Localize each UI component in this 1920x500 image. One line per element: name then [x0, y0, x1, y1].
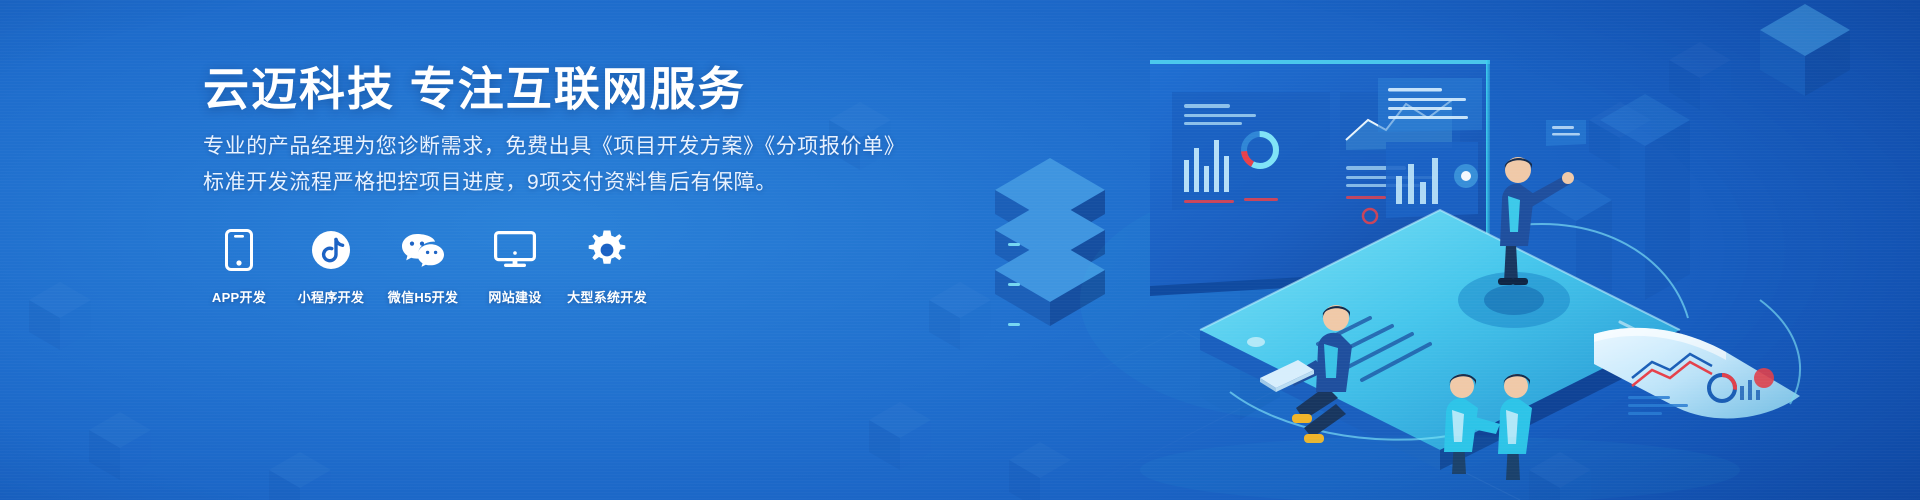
- mini-program-icon: [311, 228, 351, 272]
- service-item-website[interactable]: 网站建设: [479, 228, 551, 306]
- service-label: 小程序开发: [298, 287, 365, 306]
- gear-icon: [586, 228, 628, 272]
- service-label: 微信H5开发: [388, 287, 458, 306]
- service-label: APP开发: [212, 287, 266, 306]
- subtitle-line-1: 专业的产品经理为您诊断需求，免费出具《项目开发方案》《分项报价单》: [203, 130, 963, 164]
- service-item-app[interactable]: APP开发: [203, 228, 275, 306]
- service-item-miniprogram[interactable]: 小程序开发: [295, 228, 367, 306]
- service-label: 网站建设: [488, 287, 541, 306]
- page-title: 云迈科技 专注互联网服务: [203, 62, 963, 116]
- subtitle-line-2: 标准开发流程严格把控项目进度，9项交付资料售后有保障。: [203, 166, 963, 200]
- hero-banner: 云迈科技 专注互联网服务 专业的产品经理为您诊断需求，免费出具《项目开发方案》《…: [0, 0, 1920, 500]
- service-label: 大型系统开发: [567, 287, 647, 306]
- service-list: APP开发 小程序开发: [203, 228, 643, 306]
- banner-copy: 云迈科技 专注互联网服务 专业的产品经理为您诊断需求，免费出具《项目开发方案》《…: [203, 62, 963, 200]
- service-item-wechat-h5[interactable]: 微信H5开发: [387, 228, 459, 306]
- mobile-phone-icon: [225, 228, 253, 272]
- illustration-container: [900, 0, 1920, 500]
- wechat-icon: [401, 228, 445, 272]
- service-item-large-system[interactable]: 大型系统开发: [571, 228, 643, 306]
- monitor-icon: [494, 228, 536, 272]
